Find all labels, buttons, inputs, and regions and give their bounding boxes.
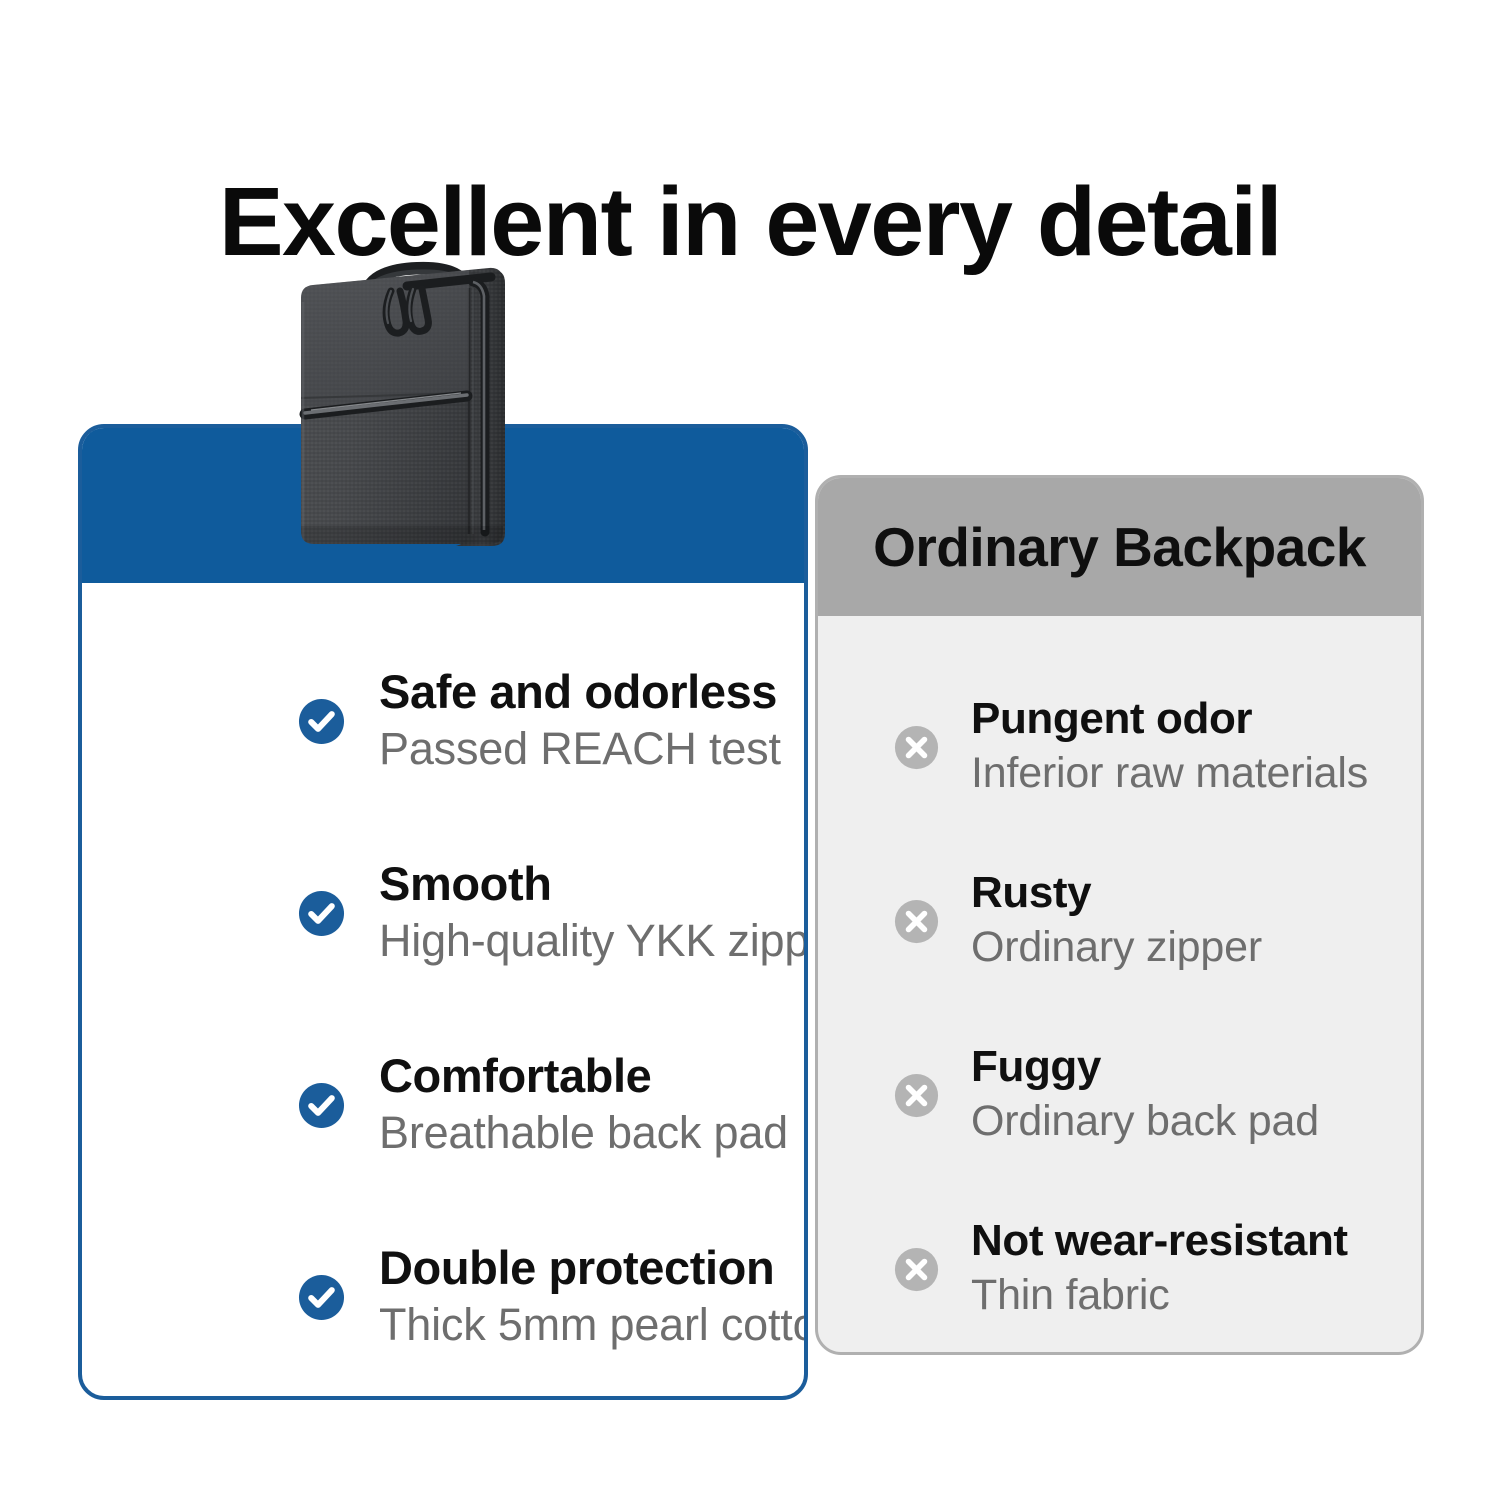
page-title: Excellent in every detail — [0, 171, 1500, 273]
infographic-canvas: Excellent in every detail Ordinary Backp… — [0, 0, 1500, 1500]
ordinary-card-title: Ordinary Backpack — [873, 515, 1366, 579]
feature-item-row: Double protectionThick 5mm pearl cotton — [82, 1201, 804, 1393]
ordinary-item-title: Rusty — [971, 866, 1421, 920]
feature-list: Safe and odorlessPassed REACH testSmooth… — [82, 583, 804, 1393]
ordinary-item-title: Fuggy — [971, 1040, 1421, 1094]
ordinary-item-subtitle: Inferior raw materials — [971, 746, 1421, 802]
ordinary-item-text: Not wear-resistantThin fabric — [971, 1214, 1421, 1324]
ordinary-item-title: Not wear-resistant — [971, 1214, 1421, 1268]
ordinary-item-row: RustyOrdinary zipper — [818, 834, 1421, 1008]
feature-item-subtitle: High-quality YKK zipper — [379, 912, 804, 971]
ordinary-item-subtitle: Thin fabric — [971, 1268, 1421, 1324]
cross-circle-icon — [894, 1073, 939, 1118]
cross-circle-icon — [894, 899, 939, 944]
check-circle-icon — [298, 1082, 345, 1129]
ordinary-item-text: FuggyOrdinary back pad — [971, 1040, 1421, 1150]
ordinary-feature-list: Pungent odorInferior raw materialsRustyO… — [818, 616, 1421, 1355]
feature-item-title: Double protection — [379, 1239, 804, 1296]
feature-item-text: Double protectionThick 5mm pearl cotton — [379, 1239, 804, 1355]
feature-item-title: Safe and odorless — [379, 663, 804, 720]
ordinary-item-title: Pungent odor — [971, 692, 1421, 746]
feature-item-text: SmoothHigh-quality YKK zipper — [379, 855, 804, 971]
feature-item-row: Safe and odorlessPassed REACH test — [82, 625, 804, 817]
feature-item-title: Comfortable — [379, 1047, 804, 1104]
cross-circle-icon — [894, 725, 939, 770]
feature-item-row: SmoothHigh-quality YKK zipper — [82, 817, 804, 1009]
ordinary-item-row: Not wear-resistantThin fabric — [818, 1182, 1421, 1355]
ordinary-item-subtitle: Ordinary zipper — [971, 920, 1421, 976]
ordinary-backpack-card: Ordinary Backpack Pungent odorInferior r… — [815, 475, 1424, 1355]
ordinary-card-header: Ordinary Backpack — [818, 478, 1421, 616]
feature-item-subtitle: Thick 5mm pearl cotton — [379, 1296, 804, 1355]
feature-item-text: ComfortableBreathable back pad — [379, 1047, 804, 1163]
check-circle-icon — [298, 1274, 345, 1321]
ordinary-item-subtitle: Ordinary back pad — [971, 1094, 1421, 1150]
check-circle-icon — [298, 890, 345, 937]
ordinary-item-text: RustyOrdinary zipper — [971, 866, 1421, 976]
backpack-product-image — [287, 258, 555, 580]
feature-item-text: Safe and odorlessPassed REACH test — [379, 663, 804, 779]
ordinary-item-row: FuggyOrdinary back pad — [818, 1008, 1421, 1182]
feature-item-row: ComfortableBreathable back pad — [82, 1009, 804, 1201]
cross-circle-icon — [894, 1247, 939, 1292]
ordinary-item-text: Pungent odorInferior raw materials — [971, 692, 1421, 802]
feature-item-subtitle: Breathable back pad — [379, 1104, 804, 1163]
feature-item-subtitle: Passed REACH test — [379, 720, 804, 779]
check-circle-icon — [298, 698, 345, 745]
ordinary-item-row: Pungent odorInferior raw materials — [818, 660, 1421, 834]
feature-item-title: Smooth — [379, 855, 804, 912]
